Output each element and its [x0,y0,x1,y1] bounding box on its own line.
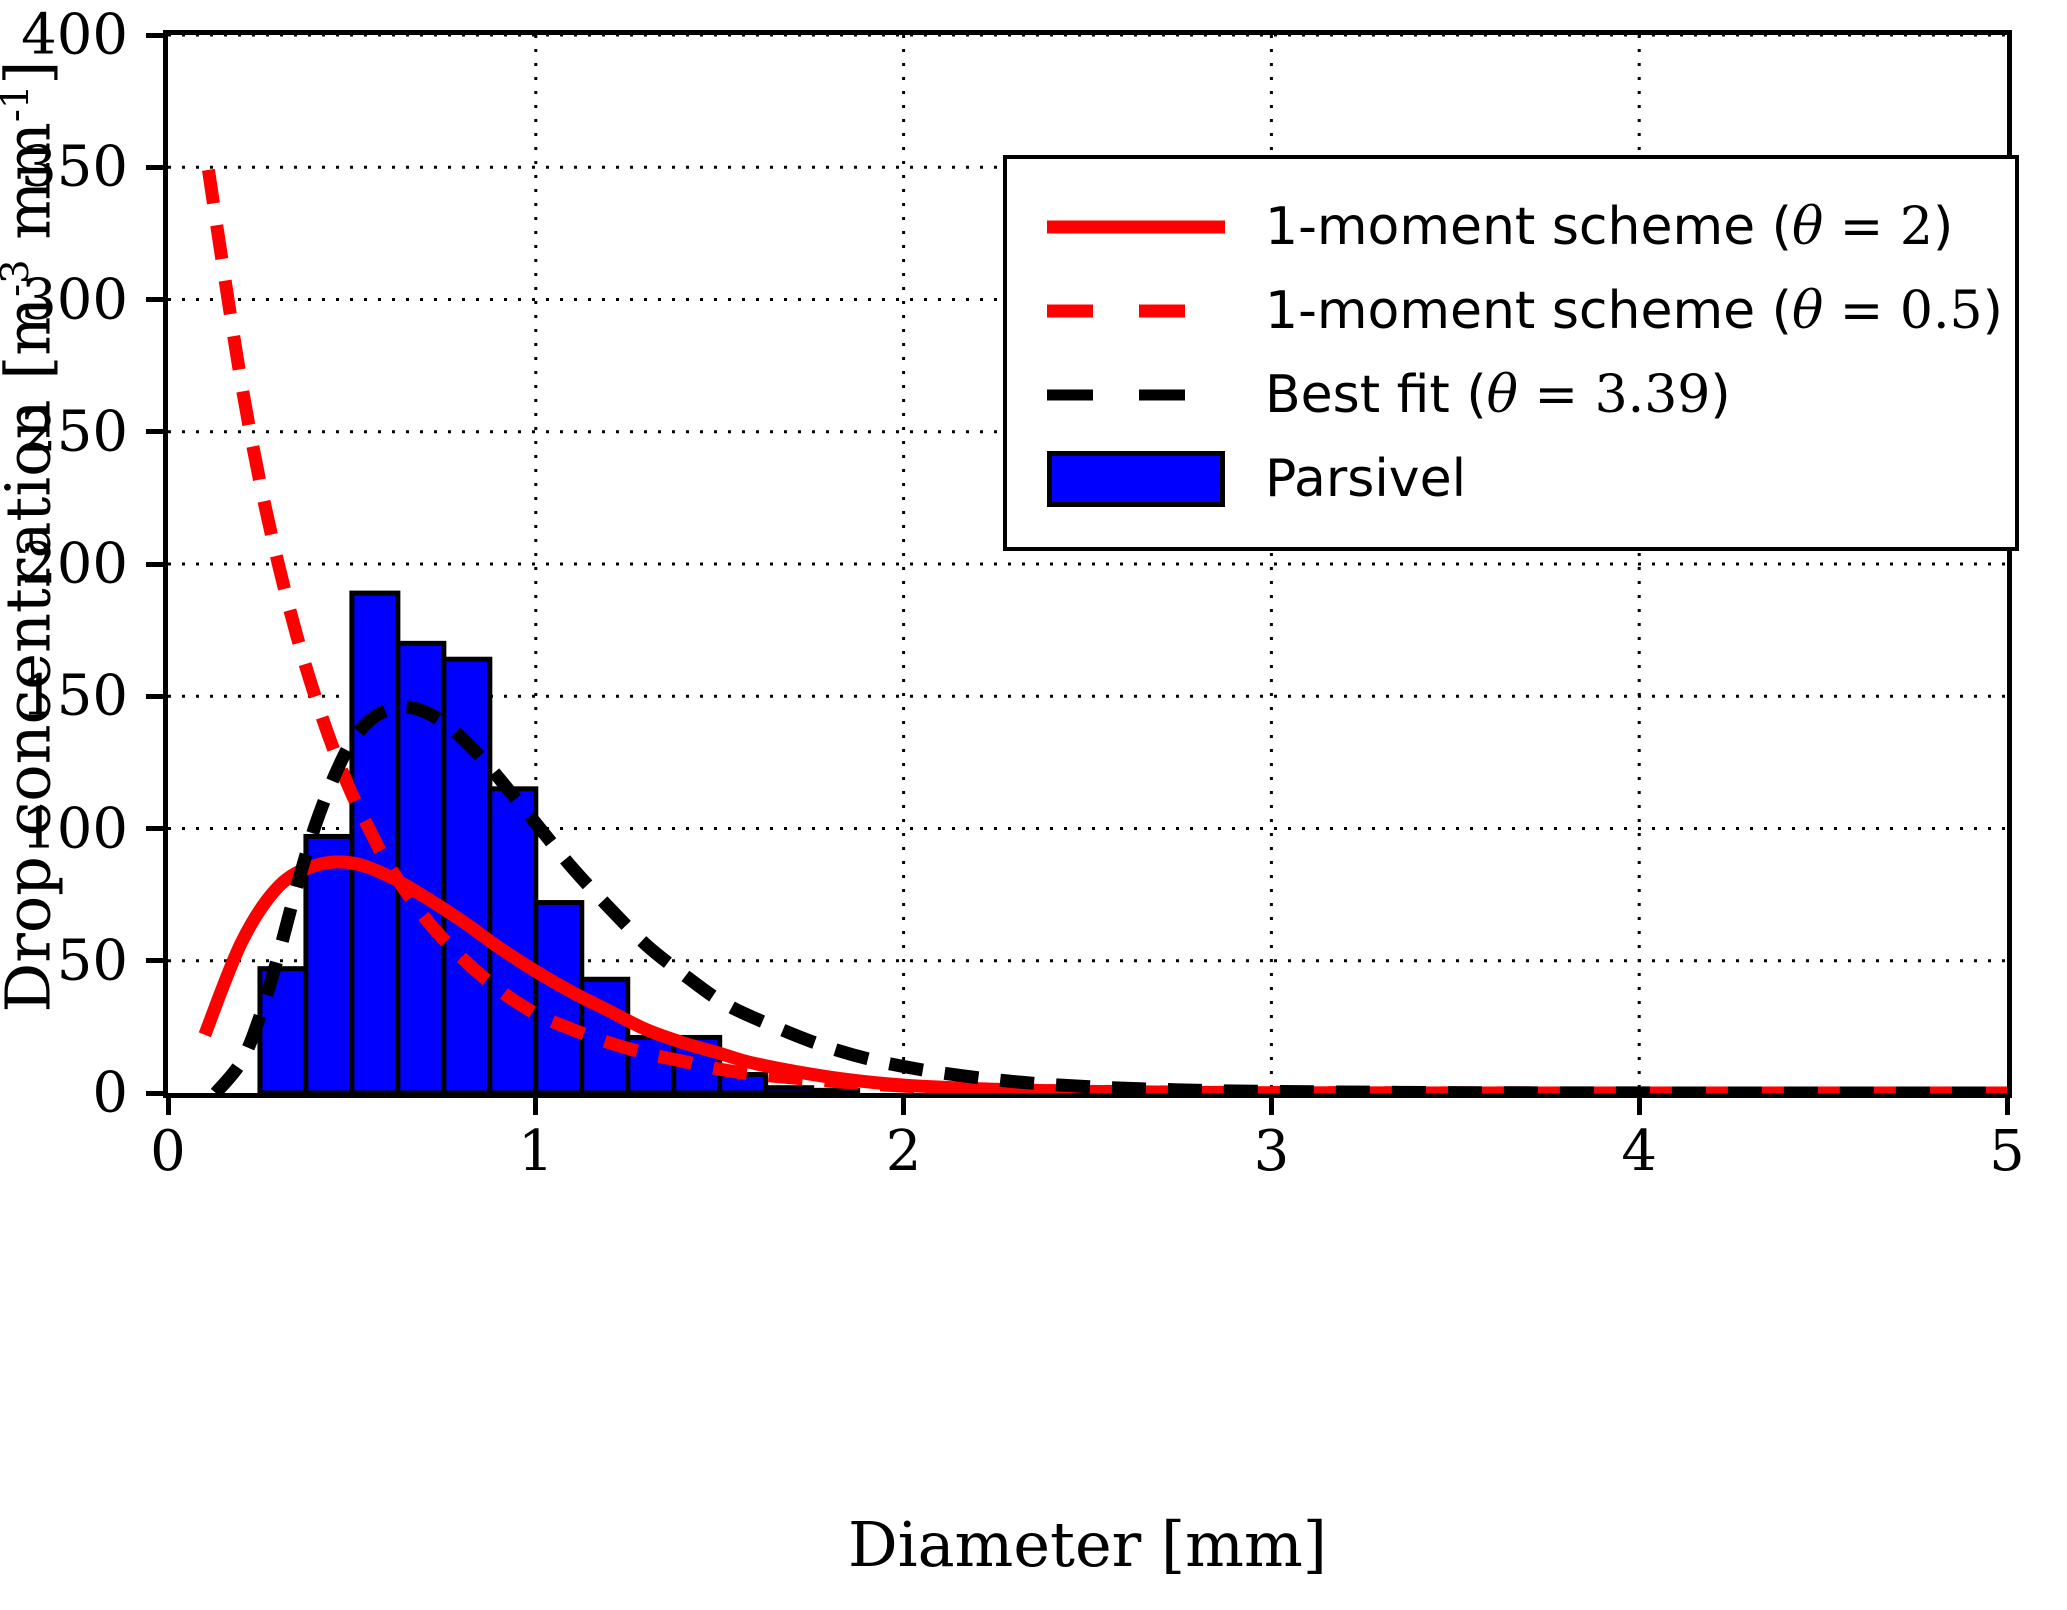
figure: Drop concentration [m-3 mm-1] Diameter [… [0,0,2067,1610]
x-axis-tick-label: 1 [466,1119,606,1184]
legend-key-dashed-red-line-swatch [1047,305,1225,318]
legend-key-dashed-red-line [1033,291,1239,331]
legend-key-blue-patch [1033,459,1239,499]
x-axis-tick-label: 0 [98,1119,238,1184]
legend-item[interactable]: Best fit (θ = 3.39) [1033,353,1985,437]
y-axis-tick-label: 150 [0,664,128,729]
y-axis-tick-label: 200 [0,532,128,597]
legend-item-label: Best fit (θ = 3.39) [1265,365,1731,425]
y-axis-tick-label: 50 [0,928,128,993]
legend-key-dashed-black-line [1033,375,1239,415]
legend-item[interactable]: 1-moment scheme (θ = 2) [1033,185,1985,269]
legend-key-dashed-black-line-swatch [1047,390,1225,401]
legend-item[interactable]: 1-moment scheme (θ = 0.5) [1033,269,1985,353]
histogram-bar [444,659,490,1093]
histogram-bar [812,1090,858,1093]
x-axis-tick-label: 3 [1201,1119,1341,1184]
legend-key-solid-red-line-swatch [1047,221,1225,234]
legend-item-label: 1-moment scheme (θ = 0.5) [1265,281,2003,341]
legend-key-solid-red-line [1033,207,1239,247]
legend-item-label: Parsivel [1265,449,1466,509]
legend-item[interactable]: Parsivel [1033,437,1985,521]
y-axis-tick-label: 400 [0,3,128,68]
legend: 1-moment scheme (θ = 2)1-moment scheme (… [1003,155,2019,551]
histogram-bar [766,1088,812,1093]
legend-item-label: 1-moment scheme (θ = 2) [1265,197,1953,257]
x-axis-tick-label: 5 [1937,1119,2067,1184]
legend-key-blue-patch-swatch [1047,451,1225,507]
y-axis-tick-label: 100 [0,796,128,861]
x-axis-tick-label: 4 [1569,1119,1709,1184]
y-axis-tick-label: 0 [0,1061,128,1126]
x-axis-tick-label: 2 [834,1119,974,1184]
histogram-bar [306,836,352,1093]
y-axis-tick-label: 300 [0,267,128,332]
y-axis-tick-label: 350 [0,135,128,200]
y-axis-tick-label: 250 [0,399,128,464]
